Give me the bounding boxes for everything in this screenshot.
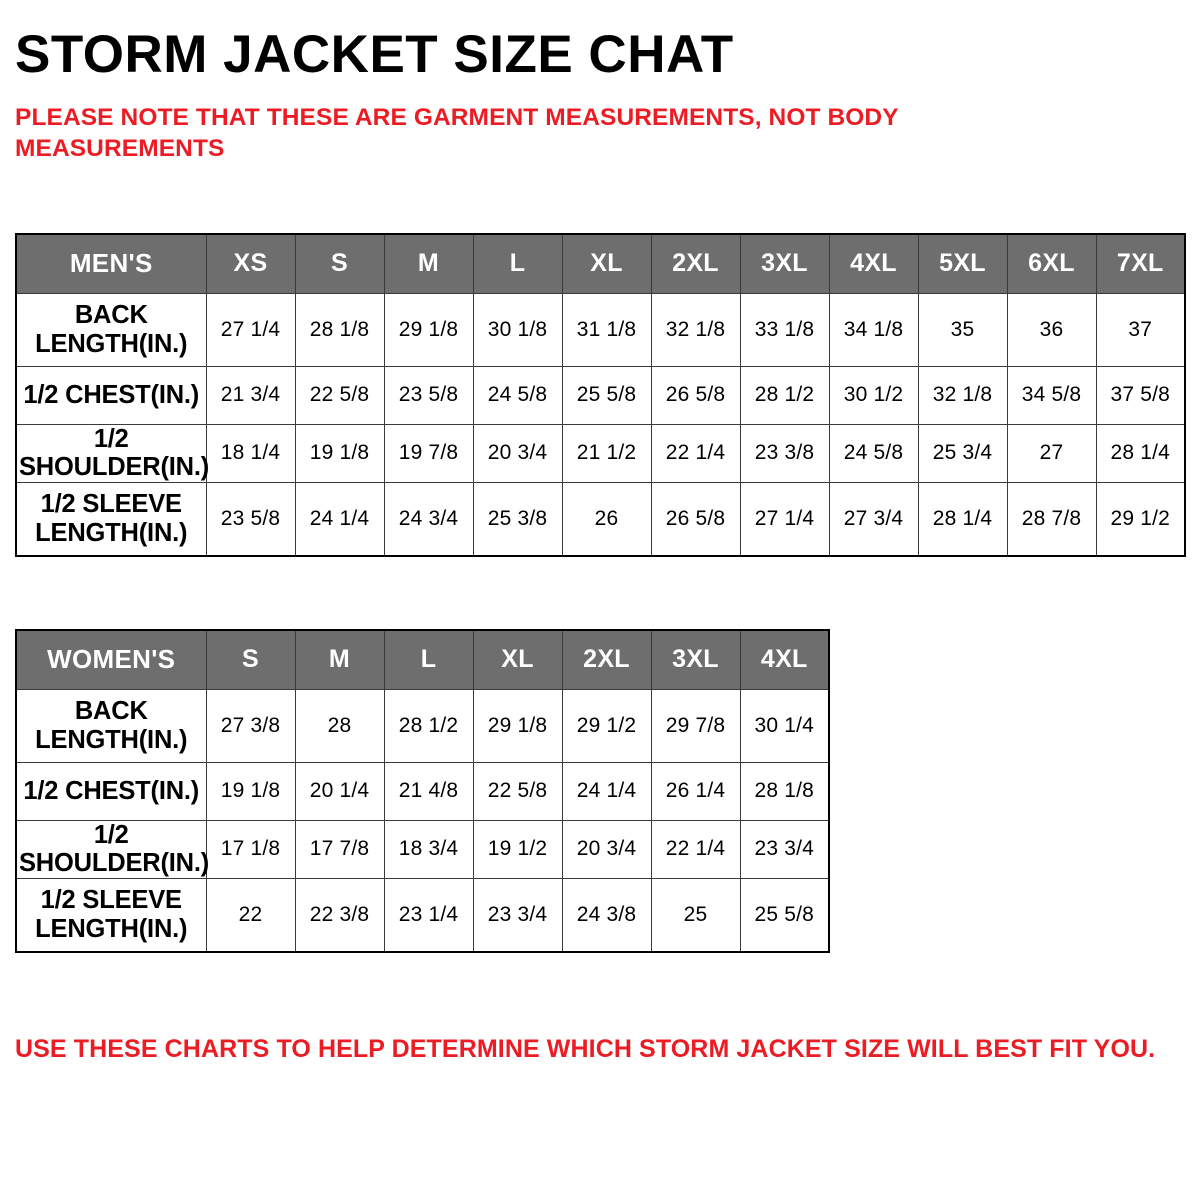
womens-column-header-4xl: 4XL [740, 630, 829, 690]
womens-cell-r0-c0: 27 3/8 [206, 689, 295, 762]
womens-cell-r0-c2: 28 1/2 [384, 689, 473, 762]
mens-cell-r0-c0: 27 1/4 [206, 293, 295, 366]
womens-cell-r1-c3: 22 5/8 [473, 762, 562, 820]
womens-cell-r1-c0: 19 1/8 [206, 762, 295, 820]
mens-cell-r2-c2: 19 7/8 [384, 424, 473, 482]
mens-cell-r1-c5: 26 5/8 [651, 366, 740, 424]
mens-column-header-3xl: 3XL [740, 234, 829, 294]
mens-cell-r1-c8: 32 1/8 [918, 366, 1007, 424]
womens-cell-r0-c4: 29 1/2 [562, 689, 651, 762]
mens-cell-r3-c2: 24 3/4 [384, 482, 473, 556]
womens-cell-r1-c4: 24 1/4 [562, 762, 651, 820]
table-row: 1/2 SLEEVELENGTH(IN.)23 5/824 1/424 3/42… [16, 482, 1185, 556]
mens-table-corner-label: MEN'S [16, 234, 206, 294]
womens-cell-r2-c6: 23 3/4 [740, 820, 829, 878]
mens-cell-r3-c3: 25 3/8 [473, 482, 562, 556]
mens-row-label-3: 1/2 SLEEVELENGTH(IN.) [16, 482, 206, 556]
womens-cell-r3-c2: 23 1/4 [384, 878, 473, 952]
womens-row-label-2: 1/2 SHOULDER(IN.) [16, 820, 206, 878]
womens-column-header-m: M [295, 630, 384, 690]
mens-cell-r1-c4: 25 5/8 [562, 366, 651, 424]
mens-cell-r2-c3: 20 3/4 [473, 424, 562, 482]
table-row: 1/2 CHEST(IN.)19 1/820 1/421 4/822 5/824… [16, 762, 829, 820]
mens-column-header-4xl: 4XL [829, 234, 918, 294]
mens-cell-r0-c10: 37 [1096, 293, 1185, 366]
mens-column-header-2xl: 2XL [651, 234, 740, 294]
mens-cell-r0-c5: 32 1/8 [651, 293, 740, 366]
mens-cell-r0-c3: 30 1/8 [473, 293, 562, 366]
mens-cell-r0-c1: 28 1/8 [295, 293, 384, 366]
womens-cell-r2-c5: 22 1/4 [651, 820, 740, 878]
mens-cell-r0-c8: 35 [918, 293, 1007, 366]
womens-table-head: WOMEN'SSMLXL2XL3XL4XL [16, 630, 829, 690]
mens-cell-r3-c7: 27 3/4 [829, 482, 918, 556]
mens-cell-r1-c0: 21 3/4 [206, 366, 295, 424]
womens-cell-r3-c1: 22 3/8 [295, 878, 384, 952]
mens-cell-r3-c4: 26 [562, 482, 651, 556]
mens-cell-r3-c6: 27 1/4 [740, 482, 829, 556]
womens-cell-r1-c5: 26 1/4 [651, 762, 740, 820]
mens-table-head: MEN'SXSSMLXL2XL3XL4XL5XL6XL7XL [16, 234, 1185, 294]
womens-column-header-3xl: 3XL [651, 630, 740, 690]
mens-column-header-xl: XL [562, 234, 651, 294]
table-row: 1/2 CHEST(IN.)21 3/422 5/823 5/824 5/825… [16, 366, 1185, 424]
womens-cell-r0-c5: 29 7/8 [651, 689, 740, 762]
size-chart-page: STORM JACKET SIZE CHAT PLEASE NOTE THAT … [0, 0, 1200, 1200]
table-row: BACKLENGTH(IN.)27 3/82828 1/229 1/829 1/… [16, 689, 829, 762]
womens-row-label-0: BACKLENGTH(IN.) [16, 689, 206, 762]
womens-cell-r1-c6: 28 1/8 [740, 762, 829, 820]
mens-header-row: MEN'SXSSMLXL2XL3XL4XL5XL6XL7XL [16, 234, 1185, 294]
womens-cell-r3-c5: 25 [651, 878, 740, 952]
mens-row-label-1: 1/2 CHEST(IN.) [16, 366, 206, 424]
womens-cell-r1-c2: 21 4/8 [384, 762, 473, 820]
mens-cell-r2-c6: 23 3/8 [740, 424, 829, 482]
womens-cell-r2-c3: 19 1/2 [473, 820, 562, 878]
mens-cell-r2-c7: 24 5/8 [829, 424, 918, 482]
mens-cell-r1-c6: 28 1/2 [740, 366, 829, 424]
footer-note: USE THESE CHARTS TO HELP DETERMINE WHICH… [15, 1035, 1185, 1064]
mens-cell-r3-c8: 28 1/4 [918, 482, 1007, 556]
mens-cell-r0-c9: 36 [1007, 293, 1096, 366]
womens-cell-r2-c4: 20 3/4 [562, 820, 651, 878]
womens-table-corner-label: WOMEN'S [16, 630, 206, 690]
page-title: STORM JACKET SIZE CHAT [15, 0, 1185, 81]
mens-column-header-7xl: 7XL [1096, 234, 1185, 294]
mens-column-header-m: M [384, 234, 473, 294]
mens-cell-r1-c2: 23 5/8 [384, 366, 473, 424]
womens-cell-r2-c1: 17 7/8 [295, 820, 384, 878]
mens-column-header-5xl: 5XL [918, 234, 1007, 294]
mens-column-header-xs: XS [206, 234, 295, 294]
mens-cell-r2-c1: 19 1/8 [295, 424, 384, 482]
table-row: 1/2 SLEEVELENGTH(IN.)2222 3/823 1/423 3/… [16, 878, 829, 952]
mens-cell-r3-c5: 26 5/8 [651, 482, 740, 556]
womens-cell-r3-c0: 22 [206, 878, 295, 952]
mens-cell-r0-c6: 33 1/8 [740, 293, 829, 366]
mens-column-header-l: L [473, 234, 562, 294]
womens-cell-r3-c3: 23 3/4 [473, 878, 562, 952]
womens-cell-r2-c2: 18 3/4 [384, 820, 473, 878]
mens-cell-r0-c2: 29 1/8 [384, 293, 473, 366]
mens-cell-r1-c1: 22 5/8 [295, 366, 384, 424]
mens-size-table: MEN'SXSSMLXL2XL3XL4XL5XL6XL7XL BACKLENGT… [15, 233, 1186, 557]
mens-cell-r2-c10: 28 1/4 [1096, 424, 1185, 482]
mens-cell-r2-c4: 21 1/2 [562, 424, 651, 482]
mens-cell-r2-c0: 18 1/4 [206, 424, 295, 482]
womens-cell-r3-c6: 25 5/8 [740, 878, 829, 952]
mens-cell-r2-c9: 27 [1007, 424, 1096, 482]
table-row: 1/2 SHOULDER(IN.)17 1/817 7/818 3/419 1/… [16, 820, 829, 878]
mens-row-label-0: BACKLENGTH(IN.) [16, 293, 206, 366]
mens-column-header-s: S [295, 234, 384, 294]
womens-column-header-s: S [206, 630, 295, 690]
mens-cell-r0-c7: 34 1/8 [829, 293, 918, 366]
table-row: BACKLENGTH(IN.)27 1/428 1/829 1/830 1/83… [16, 293, 1185, 366]
mens-cell-r1-c10: 37 5/8 [1096, 366, 1185, 424]
mens-cell-r2-c8: 25 3/4 [918, 424, 1007, 482]
garment-measurement-note: PLEASE NOTE THAT THESE ARE GARMENT MEASU… [15, 102, 975, 165]
womens-cell-r2-c0: 17 1/8 [206, 820, 295, 878]
mens-cell-r3-c9: 28 7/8 [1007, 482, 1096, 556]
womens-cell-r3-c4: 24 3/8 [562, 878, 651, 952]
mens-row-label-2: 1/2 SHOULDER(IN.) [16, 424, 206, 482]
womens-column-header-xl: XL [473, 630, 562, 690]
mens-cell-r3-c10: 29 1/2 [1096, 482, 1185, 556]
mens-cell-r1-c3: 24 5/8 [473, 366, 562, 424]
table-row: 1/2 SHOULDER(IN.)18 1/419 1/819 7/820 3/… [16, 424, 1185, 482]
womens-row-label-1: 1/2 CHEST(IN.) [16, 762, 206, 820]
womens-cell-r0-c6: 30 1/4 [740, 689, 829, 762]
womens-cell-r0-c1: 28 [295, 689, 384, 762]
mens-cell-r3-c0: 23 5/8 [206, 482, 295, 556]
mens-table-body: BACKLENGTH(IN.)27 1/428 1/829 1/830 1/83… [16, 293, 1185, 556]
mens-cell-r1-c9: 34 5/8 [1007, 366, 1096, 424]
womens-cell-r1-c1: 20 1/4 [295, 762, 384, 820]
womens-header-row: WOMEN'SSMLXL2XL3XL4XL [16, 630, 829, 690]
womens-column-header-l: L [384, 630, 473, 690]
womens-row-label-3: 1/2 SLEEVELENGTH(IN.) [16, 878, 206, 952]
mens-cell-r3-c1: 24 1/4 [295, 482, 384, 556]
womens-cell-r0-c3: 29 1/8 [473, 689, 562, 762]
womens-table-body: BACKLENGTH(IN.)27 3/82828 1/229 1/829 1/… [16, 689, 829, 952]
womens-size-table: WOMEN'SSMLXL2XL3XL4XL BACKLENGTH(IN.)27 … [15, 629, 830, 953]
mens-column-header-6xl: 6XL [1007, 234, 1096, 294]
mens-cell-r0-c4: 31 1/8 [562, 293, 651, 366]
womens-column-header-2xl: 2XL [562, 630, 651, 690]
mens-cell-r2-c5: 22 1/4 [651, 424, 740, 482]
mens-cell-r1-c7: 30 1/2 [829, 366, 918, 424]
